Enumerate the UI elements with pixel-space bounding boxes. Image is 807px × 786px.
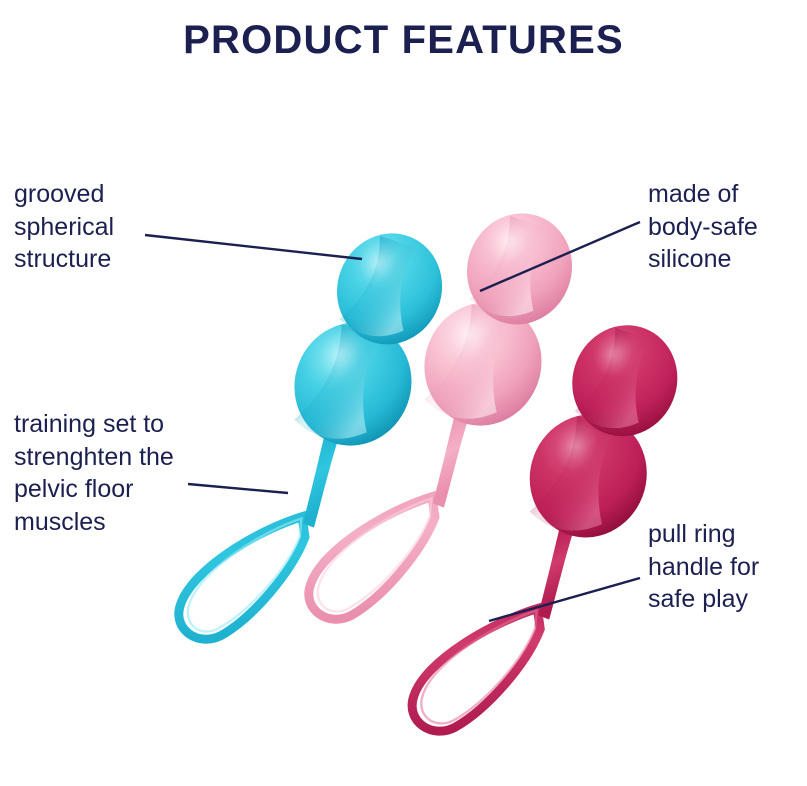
feature-label-grooved-line-3: structure xyxy=(14,243,114,276)
feature-label-silicone-line-1: made of xyxy=(648,178,758,211)
feature-label-grooved-line-2: spherical xyxy=(14,211,114,244)
feature-label-silicone-line-3: silicone xyxy=(648,243,758,276)
feature-label-training: training set to strenghten the pelvic fl… xyxy=(14,408,174,538)
feature-label-silicone: made of body-safe silicone xyxy=(648,178,758,276)
infographic-canvas: PRODUCT FEATURES xyxy=(0,0,807,786)
product-illustration-group xyxy=(0,0,807,786)
feature-label-pullring-line-3: safe play xyxy=(648,583,759,616)
feature-label-pullring: pull ring handle for safe play xyxy=(648,518,759,616)
pull-ring-loop-teal xyxy=(171,487,311,661)
feature-label-silicone-line-2: body-safe xyxy=(648,211,758,244)
feature-label-pullring-line-1: pull ring xyxy=(648,518,759,551)
feature-label-training-line-4: muscles xyxy=(14,506,174,539)
feature-label-grooved-line-1: grooved xyxy=(14,178,114,211)
feature-label-training-line-2: strenghten the xyxy=(14,441,174,474)
feature-label-grooved: grooved spherical structure xyxy=(14,178,114,276)
feature-label-pullring-line-2: handle for xyxy=(648,551,759,584)
feature-label-training-line-1: training set to xyxy=(14,408,174,441)
pull-ring-loop-crimson xyxy=(405,578,547,753)
feature-label-training-line-3: pelvic floor xyxy=(14,473,174,506)
